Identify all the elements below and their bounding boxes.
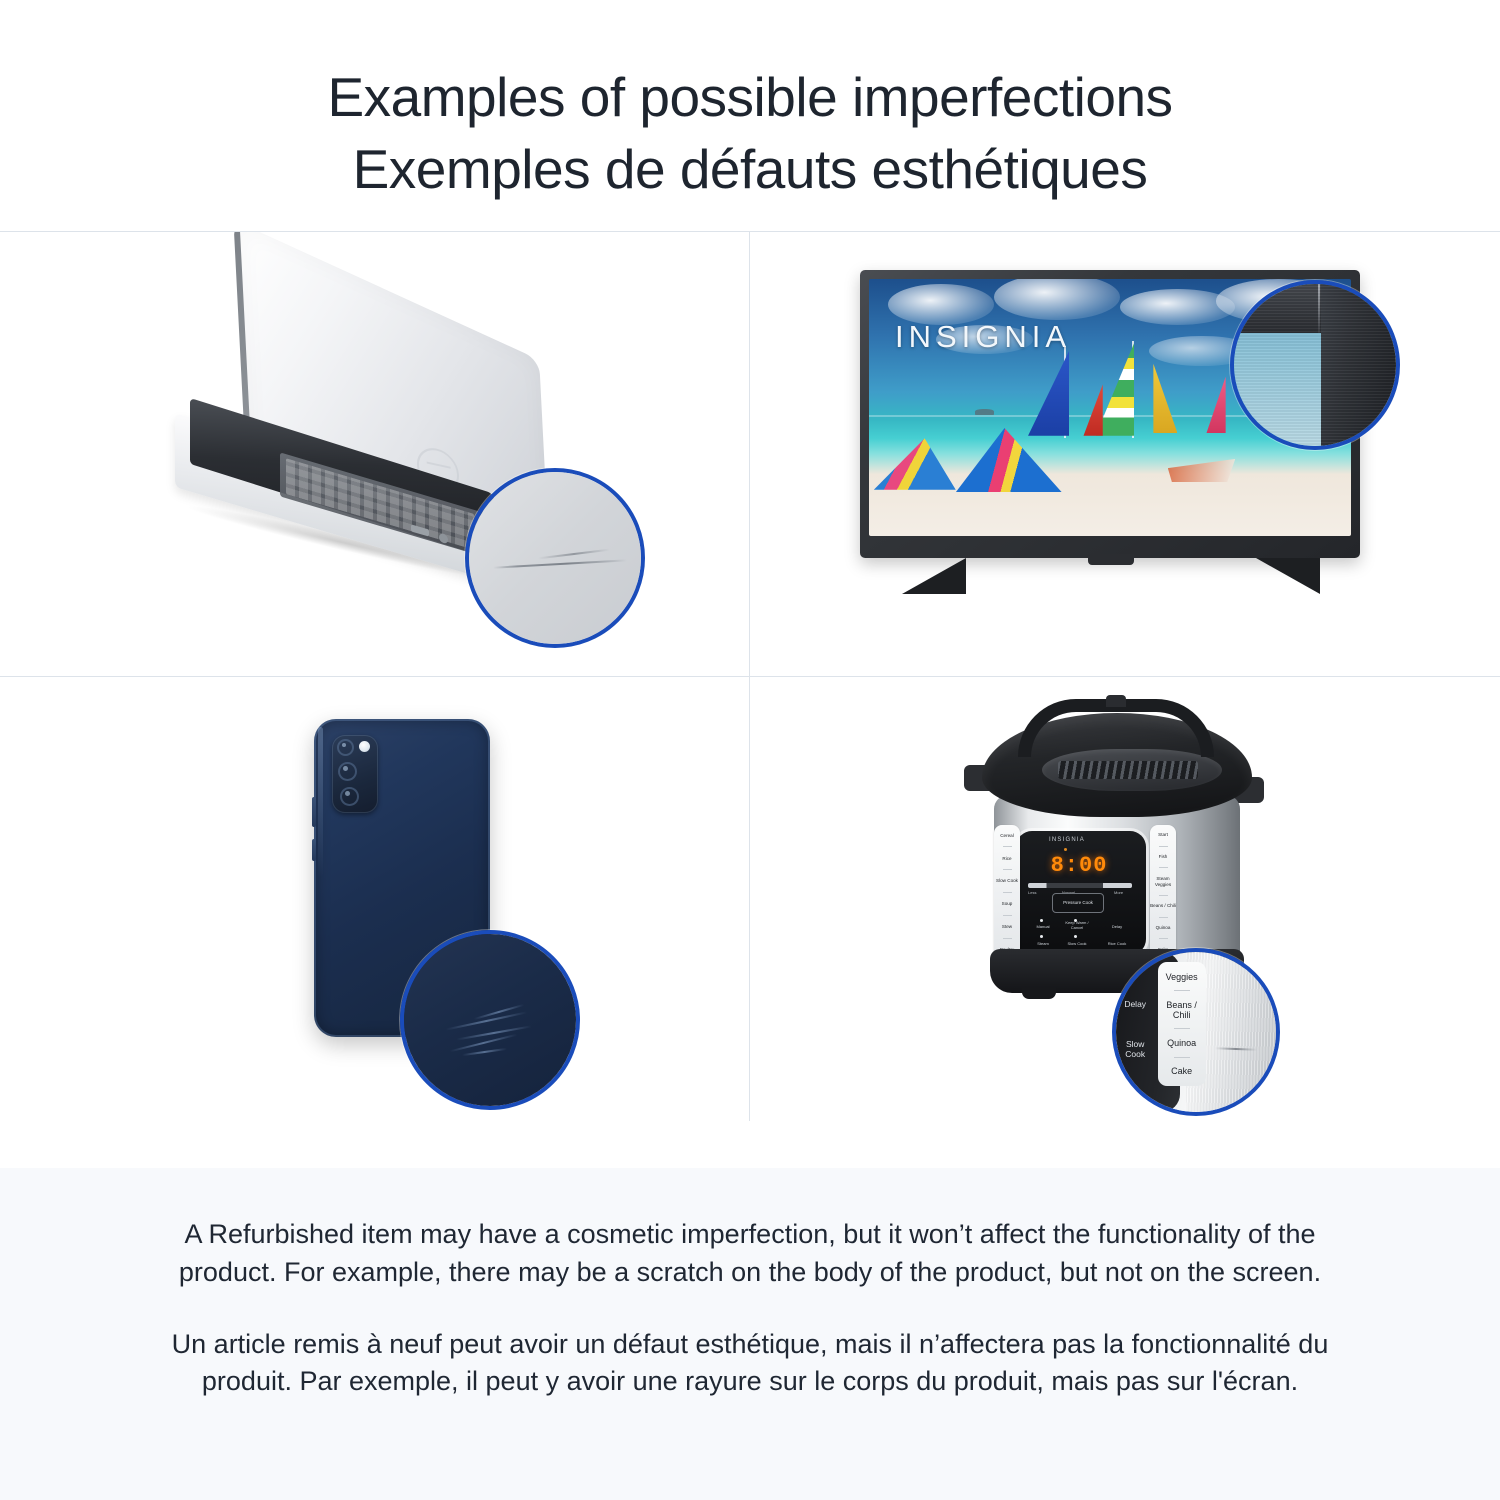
cooker-btn-start[interactable]: Start [1150,832,1176,837]
cooker-dark-keys-zoom: Delay Slow Cook [1119,984,1151,1074]
page-title: Examples of possible imperfections Exemp… [40,62,1460,205]
camera-flash-icon [359,741,370,752]
tv-foot-left [902,558,966,594]
cooker-led-a [1040,919,1043,922]
zoom-key-delay[interactable]: Delay [1124,999,1146,1009]
laptop-scratch-mark-secondary [538,548,610,558]
magnifier-laptop-content [469,472,641,644]
cooker-key-steam[interactable]: Steam [1030,941,1056,946]
magnifier-cooker-scratch: Delay Slow Cook Veggies Beans / Chili Qu… [1112,948,1280,1116]
camera-lens-1 [337,739,354,756]
cooker-key-ricecook[interactable]: Rice Cook [1104,941,1130,946]
smartphone-stage [0,677,749,1122]
bar-label-more: More [1114,890,1123,895]
cooker-key-keepwarm[interactable]: Keep Warm / Cancel [1062,920,1092,930]
phone-volume-button[interactable] [312,797,316,827]
phone-camera-module [332,735,378,813]
footer-paragraph-en: A Refurbished item may have a cosmetic i… [150,1216,1350,1292]
tv-kite-left [874,438,956,489]
cooker-btn-stew[interactable]: Stew [994,924,1020,929]
cooker-brand-label: INSIGNIA [1049,837,1085,843]
cooker-key-delay[interactable]: Delay [1104,924,1130,929]
cooker-steam-vent [1058,761,1198,779]
cooker-timer-display: 8:00 [1044,853,1114,879]
cooker-btn-cereal[interactable]: Cereal [994,833,1020,838]
page-header: Examples of possible imperfections Exemp… [0,0,1500,231]
cooker-btn-soup[interactable]: Soup [994,901,1020,906]
zoom-btn-veggies[interactable]: Veggies [1166,972,1198,982]
magnifier-laptop-scratch [465,468,645,648]
cooker-btn-beans-chili[interactable]: Beans / Chili [1150,903,1176,908]
tv-screen-brand-logo: INSIGNIA [895,319,1071,355]
cooker-btn-fish[interactable]: Fish [1150,854,1176,859]
camera-lens-3 [340,787,359,806]
cooker-foot-left [1022,987,1056,999]
cooker-led-d [1074,935,1077,938]
cooker-key-slowcook[interactable]: Slow Cook [1062,941,1092,946]
cooker-status-led [1064,848,1067,851]
bar-label-less: Less [1028,890,1036,895]
panel-smartphone [0,677,750,1122]
tv-center-plate [1088,554,1134,565]
tv-kite-center [956,428,1062,492]
page-title-en: Examples of possible imperfections [40,62,1460,134]
refurbished-imperfections-infographic: Examples of possible imperfections Exemp… [0,0,1500,1500]
tv-foot-right [1256,558,1320,594]
tv-sail-yellow [1153,364,1177,433]
cooker-key-manual[interactable]: Manual [1030,924,1056,929]
footer-paragraph-fr: Un article remis à neuf peut avoir un dé… [150,1326,1350,1402]
tv-sail-blue [1028,351,1069,436]
tv-bezel-texture [1234,284,1396,446]
magnifier-tv-bezel [1230,280,1400,450]
page-title-fr: Exemples de défauts esthétiques [40,134,1460,206]
cooker-pressure-bar [1028,883,1132,888]
magnifier-cooker-content: Delay Slow Cook Veggies Beans / Chili Qu… [1116,952,1276,1112]
magnifier-phone-content [404,934,576,1106]
phone-scratch-5 [463,1048,508,1056]
cooker-btn-steam-veggies[interactable]: Steam Veggies [1150,876,1176,886]
zoom-btn-beans-chili[interactable]: Beans / Chili [1160,1000,1204,1020]
cooker-pressure-valve[interactable] [1106,695,1126,707]
magnifier-tv-content [1234,284,1396,446]
cooker-control-panel[interactable]: INSIGNIA 8:00 Less Normal More Pressure … [1016,831,1146,955]
tv-sail-red [1083,384,1102,435]
footer-description: A Refurbished item may have a cosmetic i… [0,1168,1500,1500]
zoom-key-slow-cook[interactable]: Slow Cook [1119,1039,1151,1059]
zoom-btn-cake[interactable]: Cake [1171,1066,1192,1076]
phone-power-button[interactable] [312,839,316,861]
cooker-btn-rice[interactable]: Rice [994,856,1020,861]
cooker-led-c [1040,935,1043,938]
laptop-scratch-mark [493,559,627,568]
cooker-btn-slow-cook[interactable]: Slow Cook [994,878,1020,883]
cooker-btn-quinoa[interactable]: Quinoa [1150,925,1176,930]
cooker-white-keys-zoom[interactable]: Veggies Beans / Chili Quinoa Cake [1158,962,1206,1087]
zoom-btn-quinoa[interactable]: Quinoa [1167,1038,1196,1048]
tv-sail-pink [1206,377,1225,434]
phone-scratch-3 [449,1034,516,1053]
magnifier-phone-scratches [400,930,580,1110]
cooker-right-button-column[interactable]: Start Fish Steam Veggies Beans / Chili Q… [1150,825,1176,961]
cooker-pressure-cook-button[interactable]: Pressure Cook [1052,893,1104,913]
camera-lens-2 [338,762,357,781]
cooker-left-button-column[interactable]: Cereal Rice Slow Cook Soup Stew Poultry [994,825,1020,961]
cooker-handle[interactable] [1018,699,1214,757]
tv-kite-right [1168,459,1235,482]
phone-highlight [318,727,323,877]
